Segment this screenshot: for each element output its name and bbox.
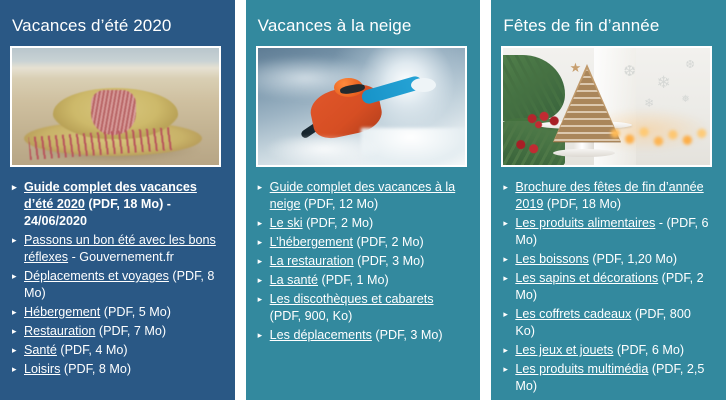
triangle-bullet-icon: ▸ (503, 179, 508, 196)
link-list-xmas: ▸Brochure des fêtes de fin d’année 2019 … (501, 179, 716, 395)
list-item[interactable]: ▸Les discothèques et cabarets (PDF, 900,… (258, 291, 467, 325)
snowflake-icon: ❆ (686, 60, 695, 71)
triangle-bullet-icon: ▸ (503, 342, 508, 359)
triangle-bullet-icon: ▸ (503, 251, 508, 268)
document-link[interactable]: Les produits alimentaires (515, 216, 655, 230)
triangle-bullet-icon: ▸ (12, 179, 17, 196)
document-meta: (PDF, 1 Mo) (318, 273, 389, 287)
christmas-tree-image: ❆ ❄ ❆ ❄ ❅ ★ (503, 48, 710, 165)
list-item[interactable]: ▸Les déplacements (PDF, 3 Mo) (258, 327, 467, 344)
document-meta: (PDF, 12 Mo) (301, 197, 379, 211)
triangle-bullet-icon: ▸ (258, 291, 263, 308)
document-meta: (PDF, 3 Mo) (372, 328, 443, 342)
document-meta: (PDF, 18 Mo) (543, 197, 621, 211)
list-item[interactable]: ▸L’hébergement (PDF, 2 Mo) (258, 234, 467, 251)
snowboarder-image (258, 48, 465, 165)
document-meta: (PDF, 900, Ko) (270, 309, 353, 323)
triangle-bullet-icon: ▸ (12, 232, 17, 249)
document-link[interactable]: Les coffrets cadeaux (515, 307, 631, 321)
link-list-snow: ▸Guide complet des vacances à la neige (… (256, 179, 471, 344)
list-item[interactable]: ▸Déplacements et voyages (PDF, 8 Mo) (12, 268, 221, 302)
list-item[interactable]: ▸La restauration (PDF, 3 Mo) (258, 253, 467, 270)
list-item[interactable]: ▸Passons un bon été avec les bons réflex… (12, 232, 221, 266)
document-meta: (PDF, 5 Mo) (100, 305, 171, 319)
document-meta: (PDF, 6 Mo) (613, 343, 684, 357)
document-meta: (PDF, 2 Mo) (353, 235, 424, 249)
triangle-bullet-icon: ▸ (258, 272, 263, 289)
triangle-bullet-icon: ▸ (12, 304, 17, 321)
document-link[interactable]: Restauration (24, 324, 95, 338)
rider-glove-shape (411, 78, 436, 92)
document-meta: (PDF, 3 Mo) (354, 254, 425, 268)
card-title-snow: Vacances à la neige (256, 0, 471, 46)
triangle-bullet-icon: ▸ (258, 215, 263, 232)
snowflake-icon: ❄ (657, 74, 671, 91)
card-thumbnail-snow (256, 46, 467, 167)
cards-board: Vacances d’été 2020 ▸Guide complet des v… (0, 0, 726, 400)
document-link[interactable]: La santé (270, 273, 318, 287)
document-link[interactable]: Les sapins et décorations (515, 271, 658, 285)
document-meta: (PDF, 7 Mo) (95, 324, 166, 338)
card-thumbnail-summer (10, 46, 221, 167)
document-link[interactable]: Les jeux et jouets (515, 343, 613, 357)
card-thumbnail-xmas: ❆ ❄ ❆ ❄ ❅ ★ (501, 46, 712, 167)
list-item[interactable]: ▸Les sapins et décorations (PDF, 2 Mo) (503, 270, 712, 304)
document-link[interactable]: Les boissons (515, 252, 589, 266)
cake-stand-base-shape (553, 149, 615, 157)
triangle-bullet-icon: ▸ (503, 306, 508, 323)
list-item[interactable]: ▸Les produits alimentaires - (PDF, 6 Mo) (503, 215, 712, 249)
list-item[interactable]: ▸Les coffrets cadeaux (PDF, 800 Ko) (503, 306, 712, 340)
triangle-bullet-icon: ▸ (258, 234, 263, 251)
triangle-bullet-icon: ▸ (12, 342, 17, 359)
card-fetes-fin-annee[interactable]: Fêtes de fin d’année ❆ ❄ ❆ ❄ ❅ ★ (491, 0, 726, 400)
list-item[interactable]: ▸Santé (PDF, 4 Mo) (12, 342, 221, 359)
snow-spray-shape (262, 137, 386, 167)
triangle-bullet-icon: ▸ (503, 270, 508, 287)
list-item[interactable]: ▸Brochure des fêtes de fin d’année 2019 … (503, 179, 712, 213)
document-meta: (PDF, 4 Mo) (57, 343, 128, 357)
triangle-bullet-icon: ▸ (503, 215, 508, 232)
beach-hat-image (12, 48, 219, 165)
triangle-bullet-icon: ▸ (12, 268, 17, 285)
list-item[interactable]: ▸Guide complet des vacances d’été 2020 (… (12, 179, 221, 230)
document-link[interactable]: L’hébergement (270, 235, 353, 249)
document-link[interactable]: Déplacements et voyages (24, 269, 169, 283)
document-link[interactable]: Les déplacements (270, 328, 372, 342)
document-link[interactable]: Le ski (270, 216, 303, 230)
triangle-bullet-icon: ▸ (258, 253, 263, 270)
snowflake-icon: ❅ (681, 95, 689, 105)
list-item[interactable]: ▸Les jeux et jouets (PDF, 6 Mo) (503, 342, 712, 359)
triangle-bullet-icon: ▸ (503, 361, 508, 378)
list-item[interactable]: ▸Les boissons (PDF, 1,20 Mo) (503, 251, 712, 268)
triangle-bullet-icon: ▸ (12, 323, 17, 340)
document-meta: (PDF, 1,20 Mo) (589, 252, 677, 266)
tree-star-icon: ★ (570, 60, 582, 76)
list-item[interactable]: ▸Le ski (PDF, 2 Mo) (258, 215, 467, 232)
document-meta: - Gouvernement.fr (68, 250, 174, 264)
hat-band-shape (91, 90, 137, 134)
list-item[interactable]: ▸La santé (PDF, 1 Mo) (258, 272, 467, 289)
holly-berries-lower-shape (507, 137, 553, 156)
snowflake-icon: ❆ (623, 64, 636, 79)
document-link[interactable]: La restauration (270, 254, 354, 268)
list-item[interactable]: ▸Les produits multimédia (PDF, 2,5 Mo) (503, 361, 712, 395)
list-item[interactable]: ▸Restauration (PDF, 7 Mo) (12, 323, 221, 340)
card-title-summer: Vacances d’été 2020 (10, 0, 225, 46)
holly-berries-shape (522, 111, 568, 130)
triangle-bullet-icon: ▸ (258, 327, 263, 344)
document-meta: (PDF, 8 Mo) (60, 362, 131, 376)
document-meta: (PDF, 2 Mo) (303, 216, 374, 230)
card-vacances-neige[interactable]: Vacances à la neige ▸Guide complet des v… (246, 0, 481, 400)
list-item[interactable]: ▸Guide complet des vacances à la neige (… (258, 179, 467, 213)
list-item[interactable]: ▸Hébergement (PDF, 5 Mo) (12, 304, 221, 321)
document-link[interactable]: Les produits multimédia (515, 362, 648, 376)
list-item[interactable]: ▸Loisirs (PDF, 8 Mo) (12, 361, 221, 378)
fairy-lights-shape (607, 123, 711, 149)
document-link[interactable]: Les discothèques et cabarets (270, 292, 434, 306)
document-link[interactable]: Loisirs (24, 362, 60, 376)
document-link[interactable]: Hébergement (24, 305, 100, 319)
triangle-bullet-icon: ▸ (12, 361, 17, 378)
document-link[interactable]: Santé (24, 343, 57, 357)
triangle-bullet-icon: ▸ (258, 179, 263, 196)
link-list-summer: ▸Guide complet des vacances d’été 2020 (… (10, 179, 225, 378)
card-title-xmas: Fêtes de fin d’année (501, 0, 716, 46)
card-vacances-ete[interactable]: Vacances d’été 2020 ▸Guide complet des v… (0, 0, 235, 400)
